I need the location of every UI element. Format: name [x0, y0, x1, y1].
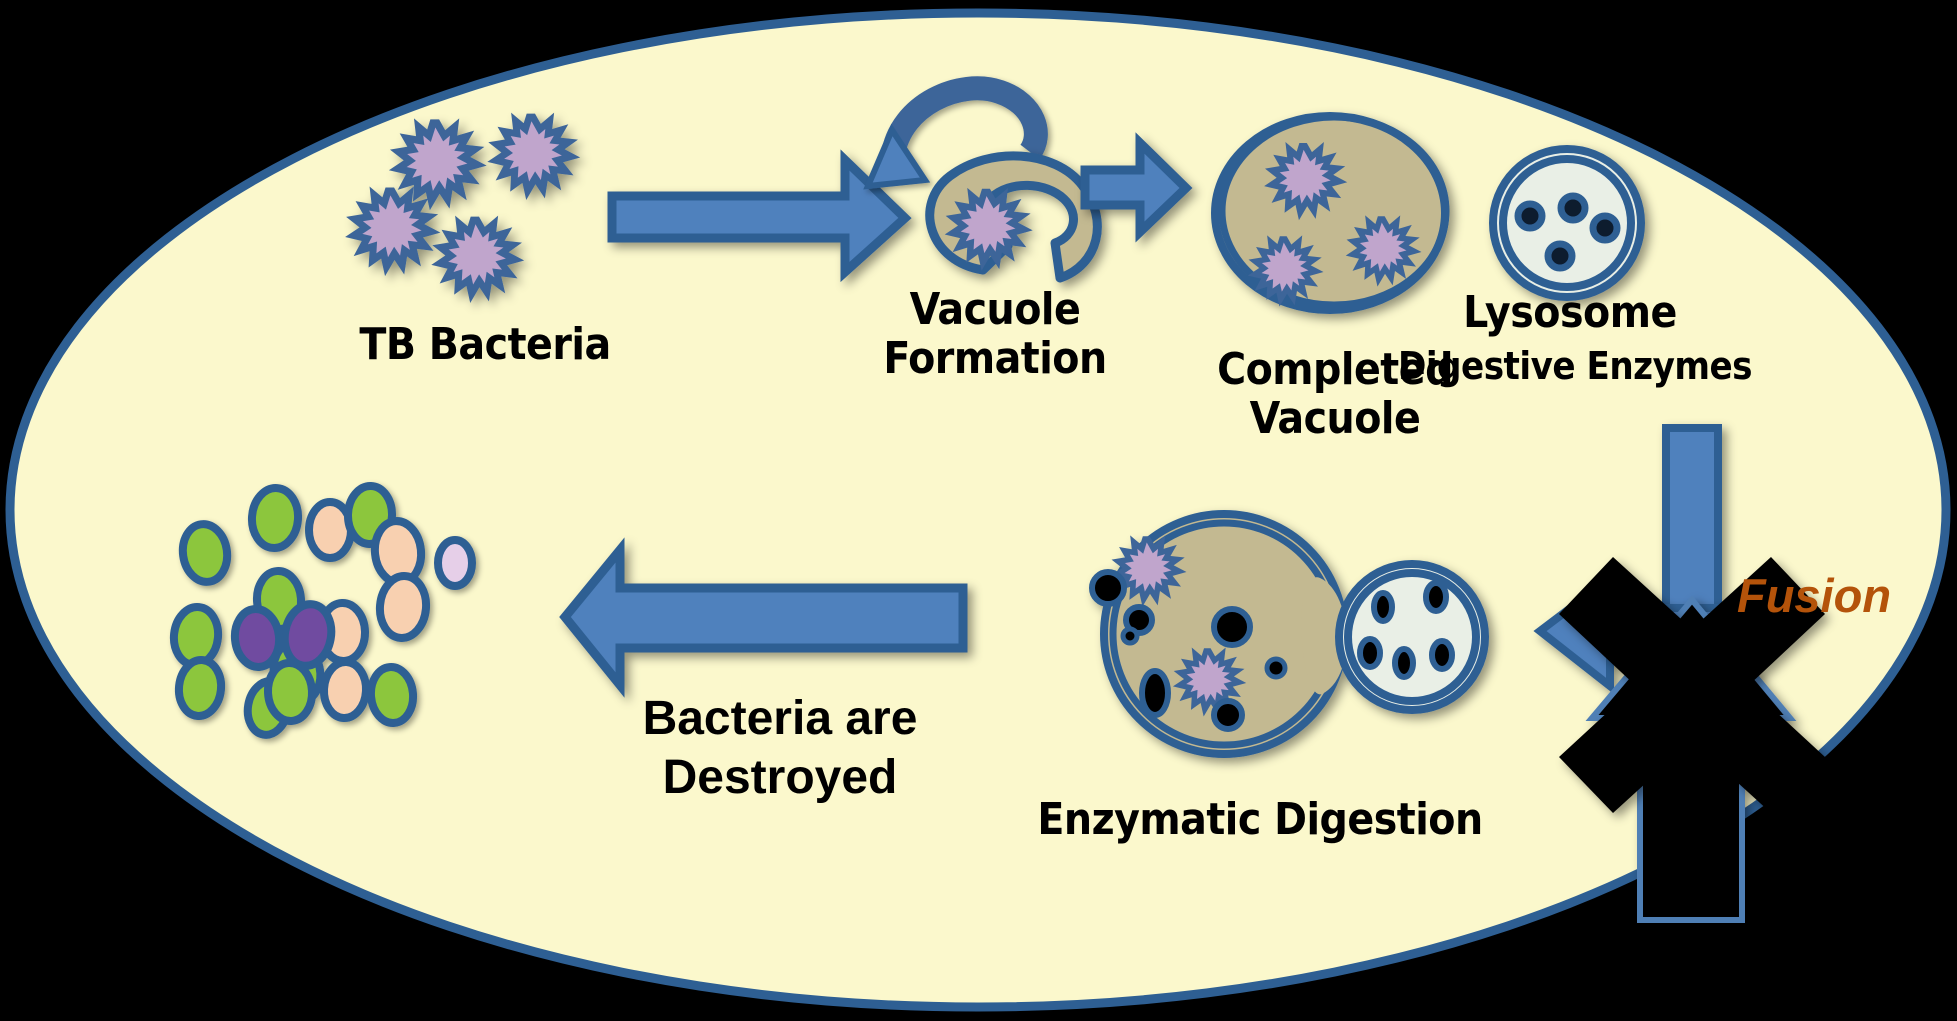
label-bacteria-destroyed: Bacteria are Destroyed — [560, 690, 1000, 807]
destroyed-bacterium-fragment — [438, 540, 472, 586]
destroyed-bacterium-fragment — [176, 658, 224, 718]
enzyme-dot — [1432, 641, 1452, 669]
enzyme-dot — [1374, 593, 1392, 621]
enzyme-dot — [1123, 629, 1137, 643]
destroyed-bacterium-fragment — [377, 574, 428, 640]
vacuole-forming — [930, 156, 1098, 278]
destroyed-bacterium-fragment — [267, 662, 314, 722]
enzyme-dot — [1267, 659, 1285, 677]
destroyed-bacterium-fragment — [323, 661, 368, 719]
destroyed-bacterium-fragment — [250, 486, 300, 549]
label-tb-bacteria: TB Bacteria — [285, 320, 685, 369]
diagram-svg — [0, 0, 1957, 1021]
diagram-canvas: TB Bacteria Vacuole Formation Completed … — [0, 0, 1957, 1021]
label-digestive-enzymes: Digestive Enzymes — [1355, 345, 1795, 388]
enzyme-dot — [1360, 639, 1380, 667]
completed-vacuole — [1215, 116, 1446, 310]
enzyme-dot — [1142, 671, 1168, 715]
label-enzymatic-digestion: Enzymatic Digestion — [1000, 795, 1520, 844]
enzyme-dot — [1092, 572, 1124, 604]
destroyed-bacterium-fragment — [232, 607, 282, 669]
label-lysosome: Lysosome — [1395, 288, 1745, 337]
destroyed-bacterium-fragment — [179, 521, 231, 585]
enzyme-dot — [1426, 583, 1446, 611]
digestive-enzyme-dot — [1518, 204, 1542, 228]
label-vacuole-formation: Vacuole Formation — [825, 285, 1165, 384]
digestive-enzyme-dot — [1593, 216, 1617, 240]
enzyme-dot — [1214, 609, 1250, 645]
digestive-enzyme-dot — [1548, 244, 1572, 268]
digestive-enzyme-dot — [1561, 196, 1585, 220]
lysosome — [1493, 149, 1641, 297]
enzyme-dot — [1395, 649, 1413, 677]
enzyme-dot — [1214, 701, 1242, 729]
label-fusion: Fusion — [1737, 570, 1957, 623]
destroyed-bacterium-fragment — [369, 665, 416, 724]
